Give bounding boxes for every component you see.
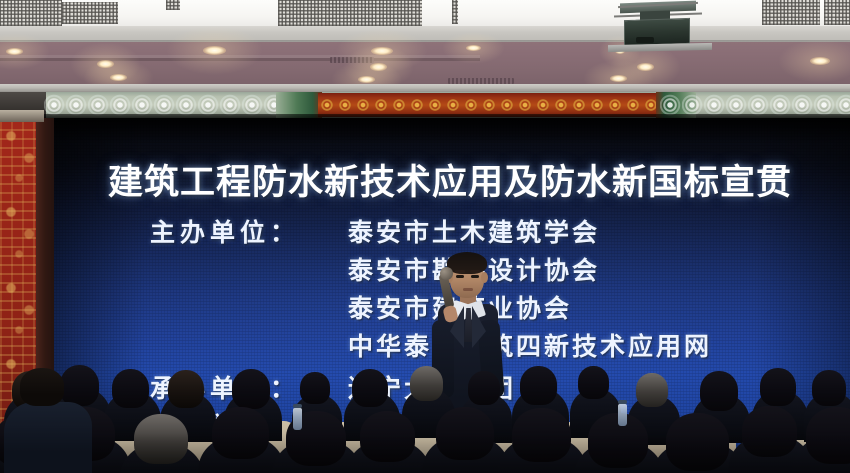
conference-photo-scene: 建筑工程防水新技术应用及防水新国标宣贯 主办单位：泰安市土木建筑学会 泰安市勘察…	[0, 0, 850, 473]
beam-gold-motif	[318, 96, 660, 114]
audience-head	[512, 408, 571, 462]
recessed-downlight	[466, 45, 481, 51]
recessed-downlight	[358, 76, 375, 83]
audience-head	[520, 366, 557, 405]
slide-title: 建筑工程防水新技术应用及防水新国标宣贯	[50, 154, 850, 205]
presenter-hair	[447, 252, 487, 274]
presenter-eyebrow-left	[455, 270, 465, 273]
audience-head	[666, 413, 729, 471]
soffit-slot-vent	[330, 57, 374, 63]
presenter-eyebrow-right	[470, 270, 480, 273]
audience-head	[636, 373, 668, 407]
water-bottle	[618, 404, 627, 426]
recessed-downlight	[371, 47, 393, 55]
recessed-downlight	[203, 46, 226, 55]
mauve-soffit-beam	[0, 42, 850, 89]
audience-head	[742, 406, 797, 457]
audience-head	[360, 411, 415, 462]
perforated-air-vent	[278, 0, 422, 26]
perforated-air-vent	[762, 0, 820, 25]
audience-head	[812, 370, 846, 406]
presenter-mouth	[463, 288, 473, 291]
ceiling-mounted-projector	[624, 18, 690, 46]
recessed-downlight	[97, 60, 114, 68]
column-capital	[0, 110, 44, 122]
recessed-downlight	[6, 48, 23, 55]
perforated-air-vent	[166, 0, 180, 10]
presenter-eye-right	[471, 275, 479, 278]
perforated-air-vent	[0, 0, 62, 26]
recessed-downlight	[370, 63, 387, 71]
audience-head	[168, 370, 204, 408]
recessed-downlight	[810, 57, 830, 65]
water-bottle-cap	[293, 404, 302, 408]
audience-head	[212, 407, 269, 459]
recessed-downlight	[610, 75, 627, 82]
slide-line-host-1: 主办单位：泰安市土木建筑学会	[150, 213, 850, 249]
audience-head	[760, 368, 796, 406]
audience-head	[352, 369, 388, 407]
audience-head	[468, 371, 500, 405]
water-bottle-cap	[618, 400, 627, 404]
projector-lens	[636, 37, 654, 43]
audience-head	[410, 366, 443, 401]
seated-audience	[0, 355, 850, 473]
audience-head	[112, 369, 149, 408]
presenter-eye-left	[456, 275, 464, 278]
perforated-air-vent	[452, 0, 458, 24]
foreground-person-head	[20, 368, 64, 406]
perforated-air-vent	[824, 0, 850, 25]
water-bottle	[293, 408, 302, 430]
presenter-ear-right	[481, 272, 488, 283]
audience-head	[134, 414, 188, 464]
slide-value-host-1: 泰安市土木建筑学会	[348, 218, 600, 247]
audience-head	[578, 366, 609, 399]
audience-head	[300, 372, 330, 404]
audience-head	[700, 371, 738, 411]
recessed-downlight	[637, 63, 654, 71]
soffit-reveal-shadow	[0, 58, 480, 61]
audience-head	[232, 369, 270, 409]
recessed-downlight	[110, 74, 127, 81]
audience-head	[436, 407, 494, 460]
foreground-person-body	[4, 402, 92, 473]
perforated-air-vent	[62, 2, 118, 24]
audience-head	[806, 407, 850, 464]
slide-label-host: 主办单位：	[150, 213, 348, 249]
foreground-person-left	[0, 368, 100, 473]
